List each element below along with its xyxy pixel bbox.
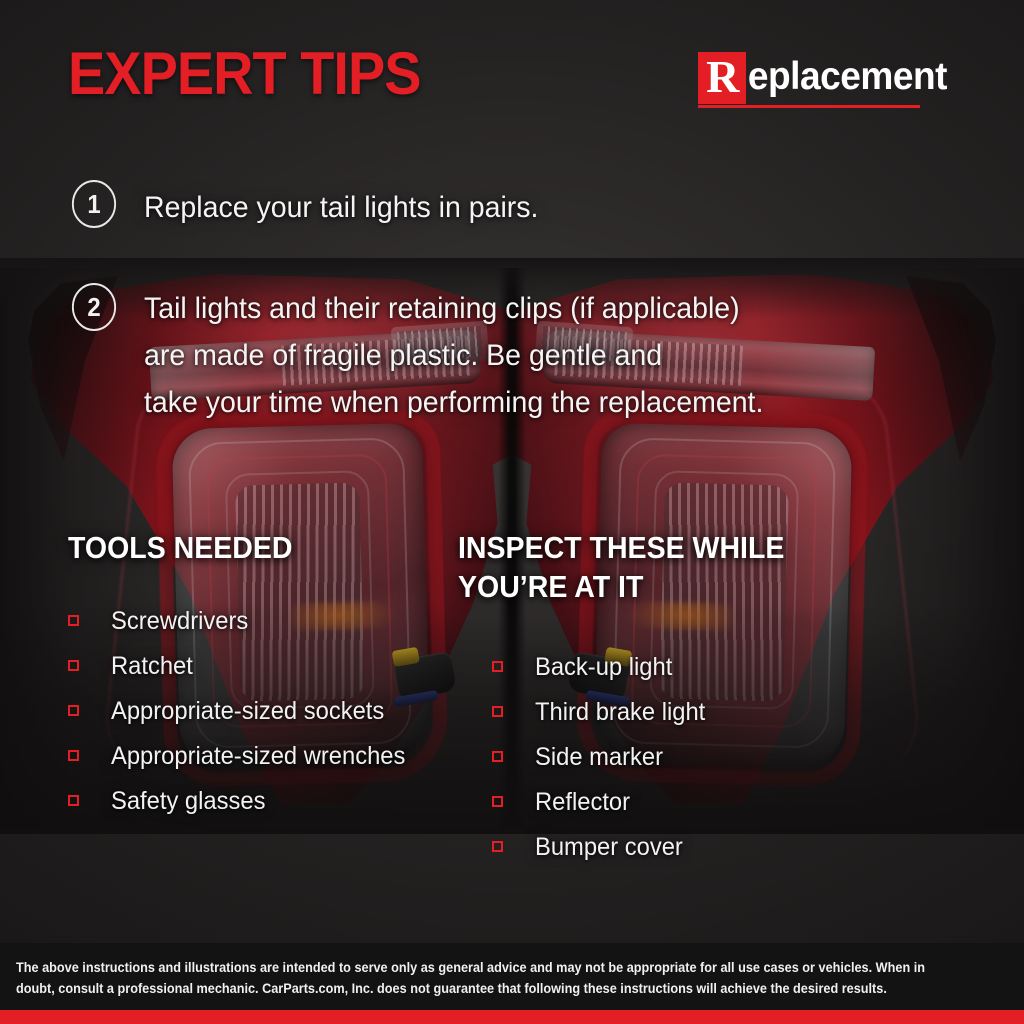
tip-item-1: 1 Replace your tail lights in pairs. [70, 180, 559, 231]
tip-number-badge: 1 [72, 180, 116, 228]
square-outline-icon [68, 660, 79, 671]
square-outline-icon [492, 796, 503, 807]
footer-disclaimer-bar: The above instructions and illustrations… [0, 943, 1024, 1010]
tip-number-badge: 2 [72, 283, 116, 331]
list-item-label: Screwdrivers [111, 606, 248, 636]
list-item: Third brake light [492, 689, 714, 734]
logo-badge-letter: R [698, 52, 746, 104]
square-outline-icon [68, 615, 79, 626]
page-title: EXPERT TIPS [68, 44, 421, 104]
square-outline-icon [68, 795, 79, 806]
content-layer: EXPERT TIPS R eplacement 1 Replace your … [0, 0, 1024, 1024]
tools-needed-heading: TOOLS NEEDED [68, 528, 293, 567]
list-item-label: Appropriate-sized sockets [111, 696, 384, 726]
list-item-label: Reflector [535, 787, 630, 817]
list-item-label: Bumper cover [535, 832, 683, 862]
list-item: Reflector [492, 779, 714, 824]
square-outline-icon [492, 841, 503, 852]
logo-wordmark: eplacement [746, 52, 947, 102]
inspect-these-list: Back-up light Third brake light Side mar… [492, 644, 714, 869]
expert-tips-infographic: EXPERT TIPS R eplacement 1 Replace your … [0, 0, 1024, 1024]
list-item-label: Safety glasses [111, 786, 265, 816]
list-item-label: Appropriate-sized wrenches [111, 741, 405, 771]
list-item-label: Side marker [535, 742, 663, 772]
tip-item-2: 2 Tail lights and their retaining clips … [70, 283, 796, 426]
list-item-label: Ratchet [111, 651, 193, 681]
square-outline-icon [492, 751, 503, 762]
logo-underline [698, 105, 920, 108]
list-item: Safety glasses [68, 778, 421, 823]
list-item-label: Third brake light [535, 697, 705, 727]
tip-text: Tail lights and their retaining clips (i… [144, 285, 763, 426]
list-item: Appropriate-sized sockets [68, 688, 421, 733]
square-outline-icon [492, 661, 503, 672]
list-item: Side marker [492, 734, 714, 779]
square-outline-icon [68, 750, 79, 761]
footer-disclaimer-text: The above instructions and illustrations… [16, 957, 952, 999]
list-item: Ratchet [68, 643, 421, 688]
tip-text: Replace your tail lights in pairs. [144, 184, 538, 231]
list-item: Appropriate-sized wrenches [68, 733, 421, 778]
list-item-label: Back-up light [535, 652, 672, 682]
list-item: Back-up light [492, 644, 714, 689]
tools-needed-list: Screwdrivers Ratchet Appropriate-sized s… [68, 598, 421, 823]
brand-logo: R eplacement [698, 52, 958, 108]
list-item: Bumper cover [492, 824, 714, 869]
list-item: Screwdrivers [68, 598, 421, 643]
logo-row: R eplacement [698, 52, 958, 104]
square-outline-icon [492, 706, 503, 717]
inspect-these-heading: INSPECT THESE WHILE YOU’RE AT IT [458, 528, 784, 606]
bottom-accent-bar [0, 1010, 1024, 1024]
square-outline-icon [68, 705, 79, 716]
